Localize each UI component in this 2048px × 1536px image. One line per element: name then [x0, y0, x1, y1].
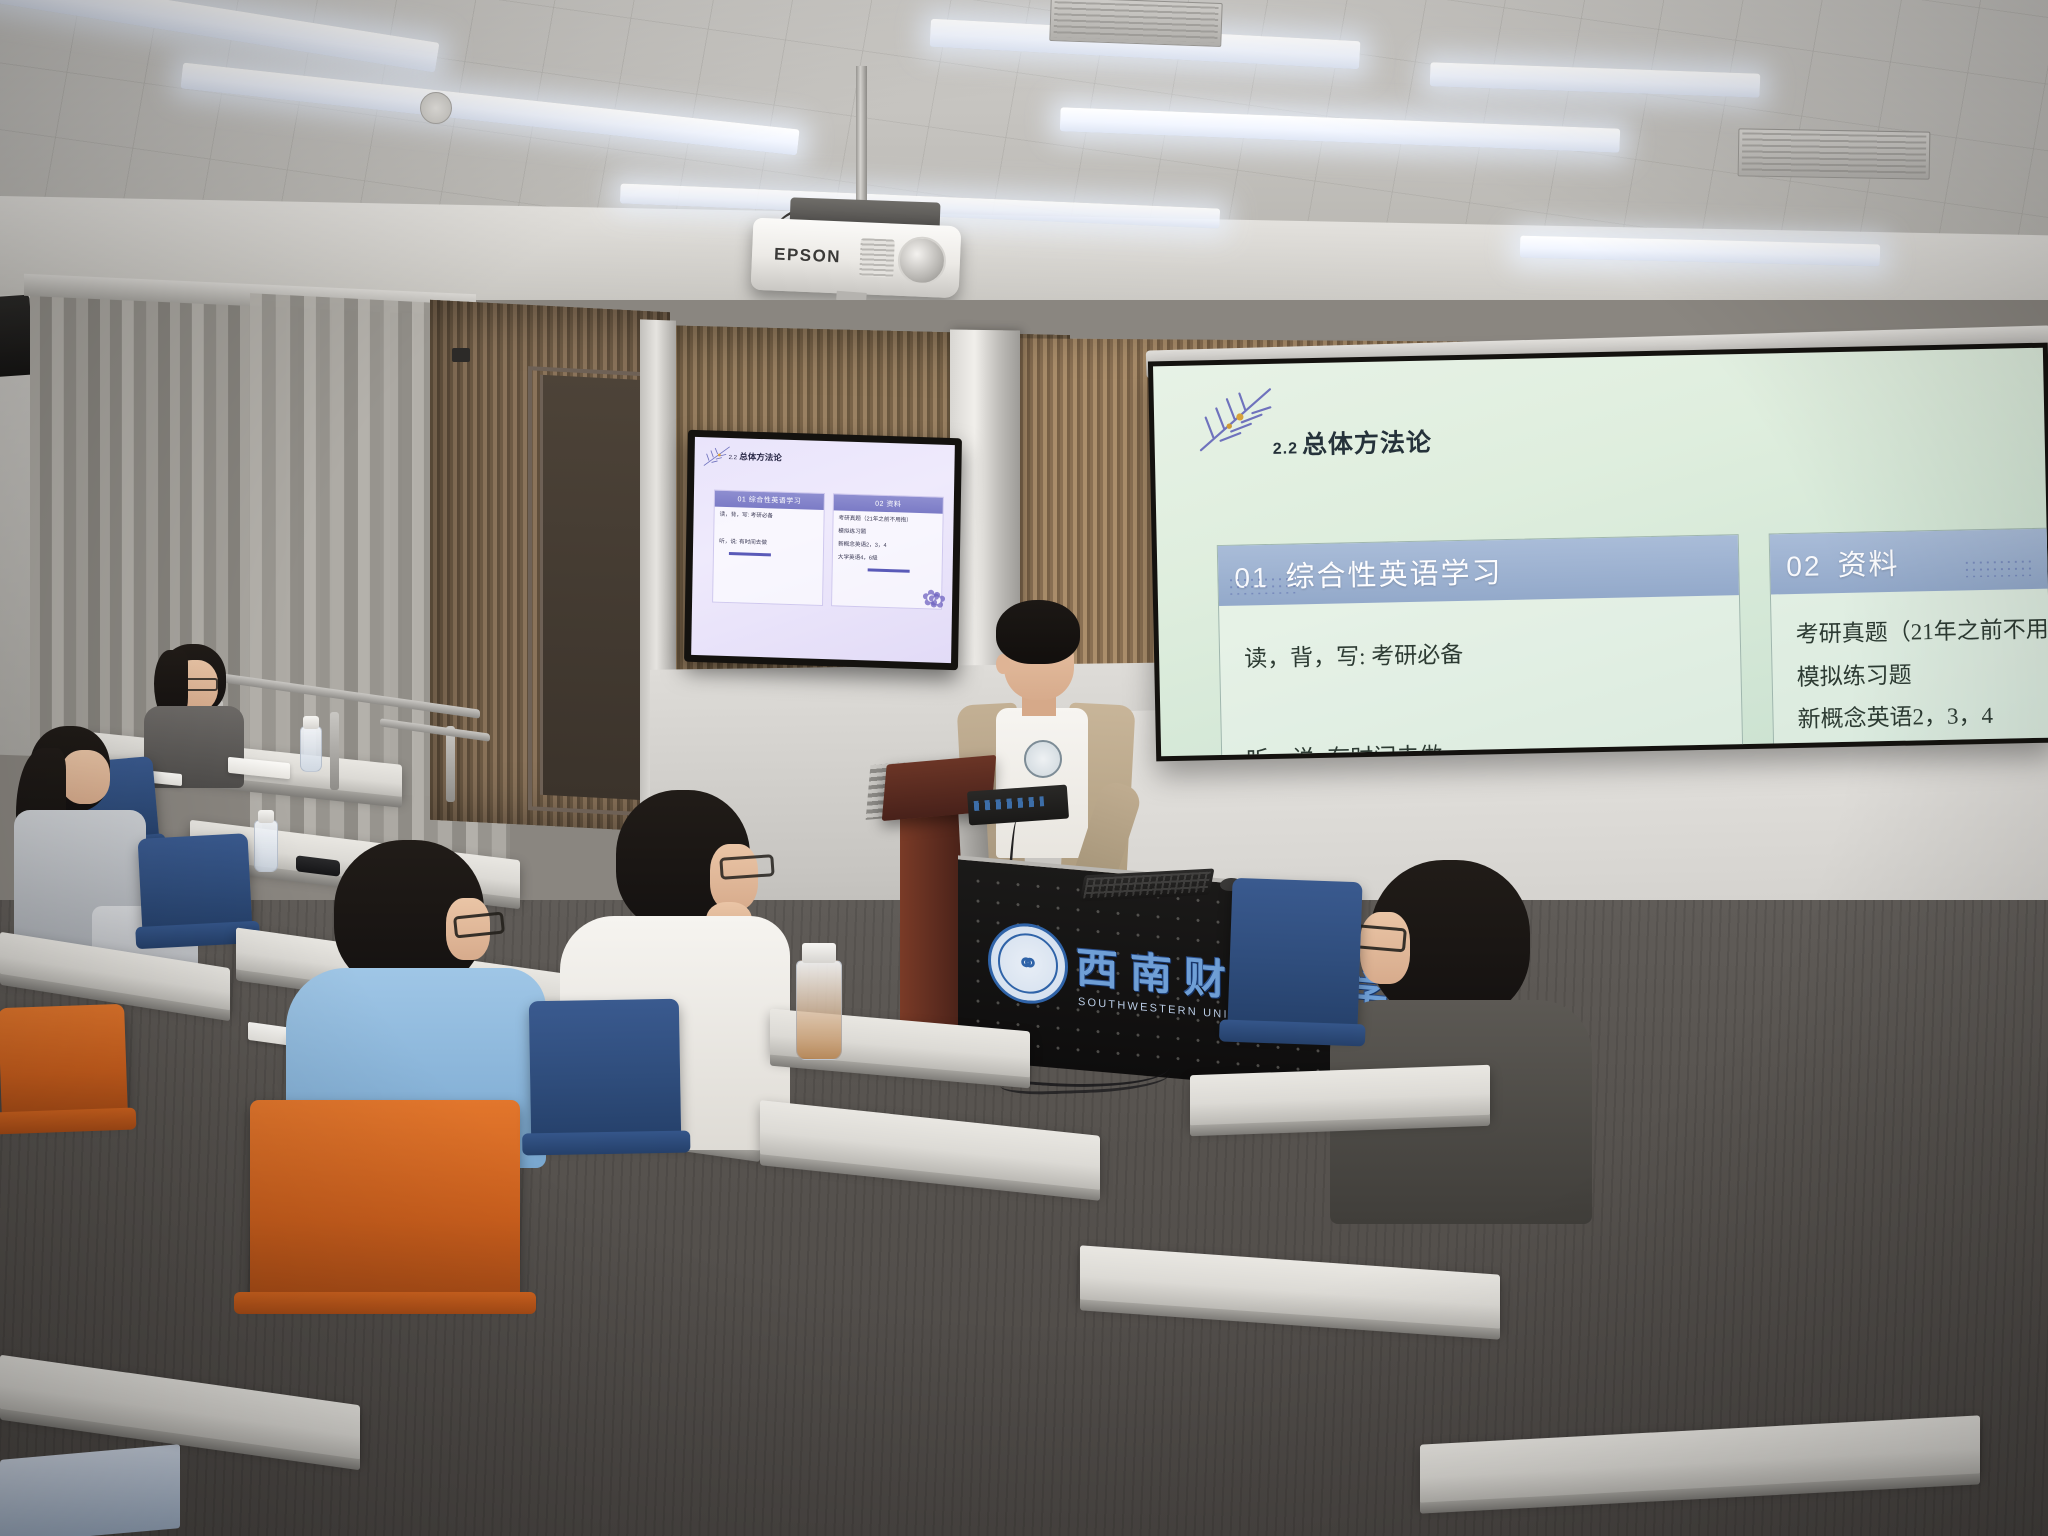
water-bottle	[796, 960, 842, 1060]
chair[interactable]	[250, 1100, 520, 1300]
student-desk	[1190, 1065, 1490, 1127]
slide-title-text: 总体方法论	[1302, 429, 1433, 460]
slide-column-heading: 01综合性英语学习	[1218, 535, 1739, 606]
eyeglasses-icon	[453, 911, 505, 938]
leaf-decoration-icon	[1191, 384, 1284, 458]
smoke-detector-icon	[420, 92, 452, 124]
chair[interactable]	[529, 999, 681, 1142]
laptop[interactable]	[0, 1444, 180, 1536]
chair[interactable]	[138, 833, 253, 935]
tv-column-number: 01	[737, 496, 746, 503]
projected-slide: 2.2总体方法论 01综合性英语学习 读，背，写: 考研必备 听，说: 有时间去…	[1153, 348, 2048, 757]
tv-column: 01 综合性英语学习 读，背，写: 考研必备 听，说: 有时间去做 ✿	[712, 490, 825, 606]
tv-column: 02 资料 考研真题（21年之前不用抱） 模拟练习题 新概念英语2，3，4 大学…	[831, 493, 944, 609]
slide-column: 01综合性英语学习 读，背，写: 考研必备 听，说: 有时间去做 ✿ ✿	[1217, 534, 1746, 756]
tv-line: 读，背，写: 考研必备	[720, 512, 819, 522]
projector-lens-icon	[897, 236, 947, 286]
tv-column-number: 02	[875, 501, 884, 508]
air-vent-icon	[1049, 0, 1222, 47]
presenter-hair	[996, 600, 1080, 664]
slide-line: 读，背，写: 考研必备	[1244, 622, 1717, 687]
slide-column-body: 读，背，写: 考研必备 听，说: 有时间去做 ✿ ✿	[1219, 595, 1744, 756]
tv-column-body: 读，背，写: 考研必备 听，说: 有时间去做 ✿	[713, 507, 824, 605]
flower-decoration-icon: ✿	[927, 587, 946, 614]
projector-brand-label: EPSON	[774, 245, 842, 268]
presenter-shirt	[996, 708, 1088, 858]
dot-decoration-icon	[1963, 558, 2033, 577]
tv-line: 模拟练习题	[838, 528, 937, 538]
chair[interactable]	[1227, 878, 1362, 1032]
tv-slide-title: 2.2 总体方法论	[729, 450, 782, 464]
student-face	[60, 750, 110, 804]
slide-column-number: 02	[1786, 550, 1822, 582]
tv-line: 考研真题（21年之前不用抱）	[838, 515, 937, 525]
slide-column-body: 考研真题（21年之前不用抱） 模拟练习题 新概念英语2，3，4 大学英语4，6级…	[1771, 584, 2048, 757]
tv-slide-number: 2.2	[729, 455, 737, 461]
wall-sensor-icon	[452, 348, 470, 362]
projector-mount-pole	[856, 66, 867, 216]
tv-column-heading-text: 资料	[886, 501, 901, 508]
slide-number: 2.2	[1273, 440, 1299, 458]
water-bottle	[254, 820, 278, 872]
desk-rail-post	[446, 726, 455, 802]
chair[interactable]	[0, 1004, 128, 1120]
slide-title: 2.2总体方法论	[1272, 423, 1432, 462]
projection-screen[interactable]: 2.2总体方法论 01综合性英语学习 读，背，写: 考研必备 听，说: 有时间去…	[1148, 343, 2048, 762]
epson-projector: EPSON	[751, 218, 962, 299]
slide-line: 考研真题（21年之前不用抱）	[1795, 604, 2048, 656]
tv-line: 大学英语4，6级	[838, 554, 937, 564]
slide-column-heading-text: 综合性英语学习	[1285, 557, 1503, 594]
classroom-photo: EPSON 2.2 总体方法论	[0, 0, 2048, 1536]
shirt-graphic-icon	[1024, 740, 1062, 778]
tv-slide-title-text: 总体方法论	[739, 451, 782, 462]
university-logo-mark: ⚭	[1017, 947, 1039, 980]
air-vent-icon	[1738, 128, 1931, 179]
tv-line: 新概念英语2，3，4	[838, 541, 937, 551]
tv-slide: 2.2 总体方法论 01 综合性英语学习 读，背，写: 考研必备 听，说: 有时…	[691, 437, 955, 663]
tv-columns: 01 综合性英语学习 读，背，写: 考研必备 听，说: 有时间去做 ✿ 02 资	[712, 490, 944, 610]
tv-underline	[868, 568, 910, 572]
tv-underline	[729, 552, 771, 556]
slide-columns: 01综合性英语学习 读，背，写: 考研必备 听，说: 有时间去做 ✿ ✿ 0	[1217, 527, 2048, 756]
desk-rail-post	[330, 712, 339, 790]
projector-vent-icon	[859, 238, 895, 277]
dot-decoration-icon	[1227, 575, 1297, 594]
tv-column-heading-text: 综合性英语学习	[749, 497, 802, 506]
student	[1330, 860, 1590, 1220]
water-bottle	[300, 726, 322, 772]
eyeglasses-icon	[719, 854, 774, 880]
wall-tv-monitor[interactable]: 2.2 总体方法论 01 综合性英语学习 读，背，写: 考研必备 听，说: 有时…	[684, 430, 962, 671]
slide-column-heading-text: 资料	[1837, 549, 1900, 582]
